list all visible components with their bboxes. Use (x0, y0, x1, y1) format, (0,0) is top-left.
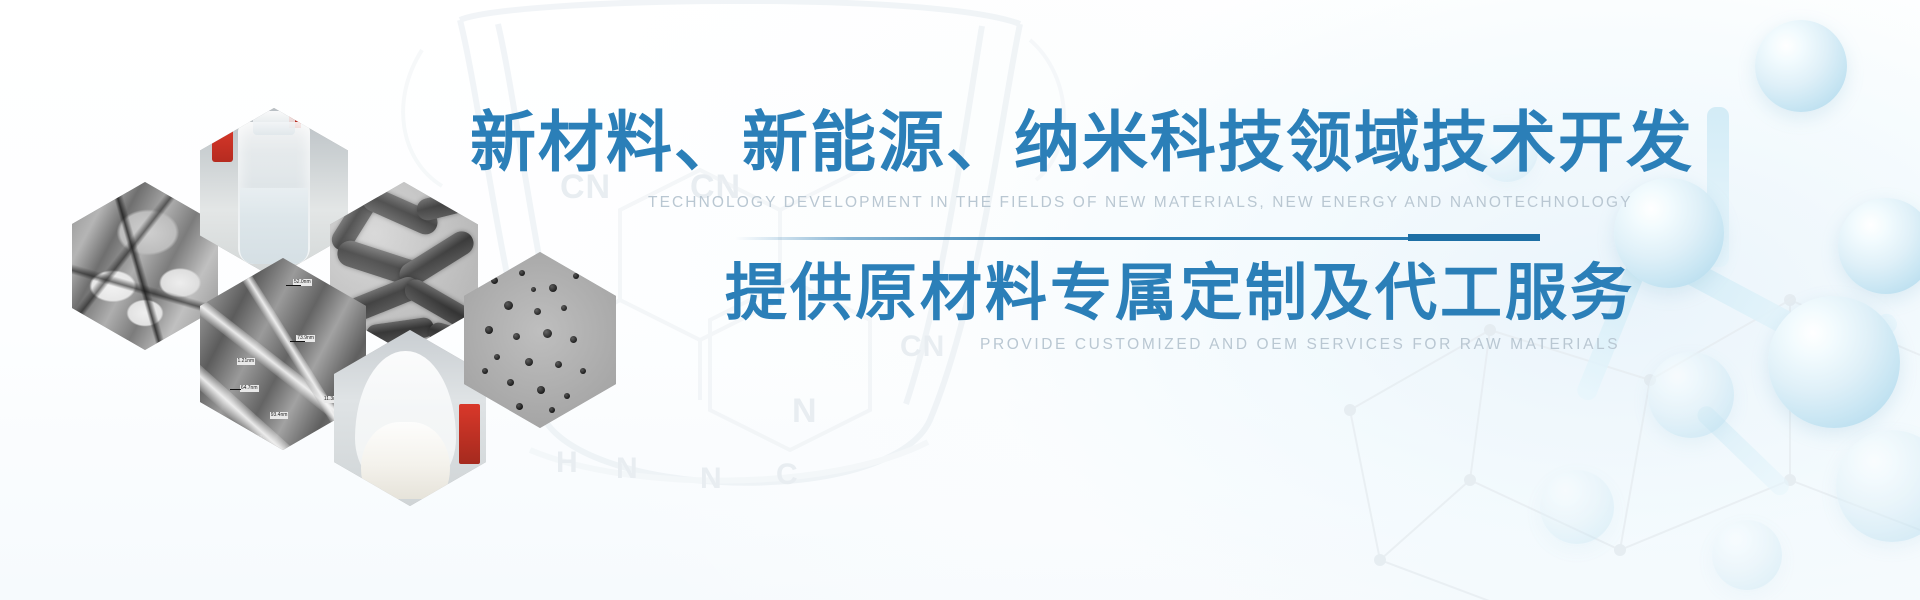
section-divider-accent (1408, 234, 1540, 241)
headline-primary-en: TECHNOLOGY DEVELOPMENT IN THE FIELDS OF … (648, 194, 1538, 212)
headline-secondary-cn: 提供原材料专属定制及代工服务 (725, 262, 1635, 324)
headline-secondary-en: PROVIDE CUSTOMIZED AND OEM SERVICES FOR … (980, 336, 1540, 354)
headline-primary-cn: 新材料、新能源、纳米科技领域技术开发 (470, 110, 1694, 176)
banner-text-block: 新材料、新能源、纳米科技领域技术开发 TECHNOLOGY DEVELOPMEN… (0, 0, 1920, 600)
hero-banner: CN CN CN N N H N C (0, 0, 1920, 600)
